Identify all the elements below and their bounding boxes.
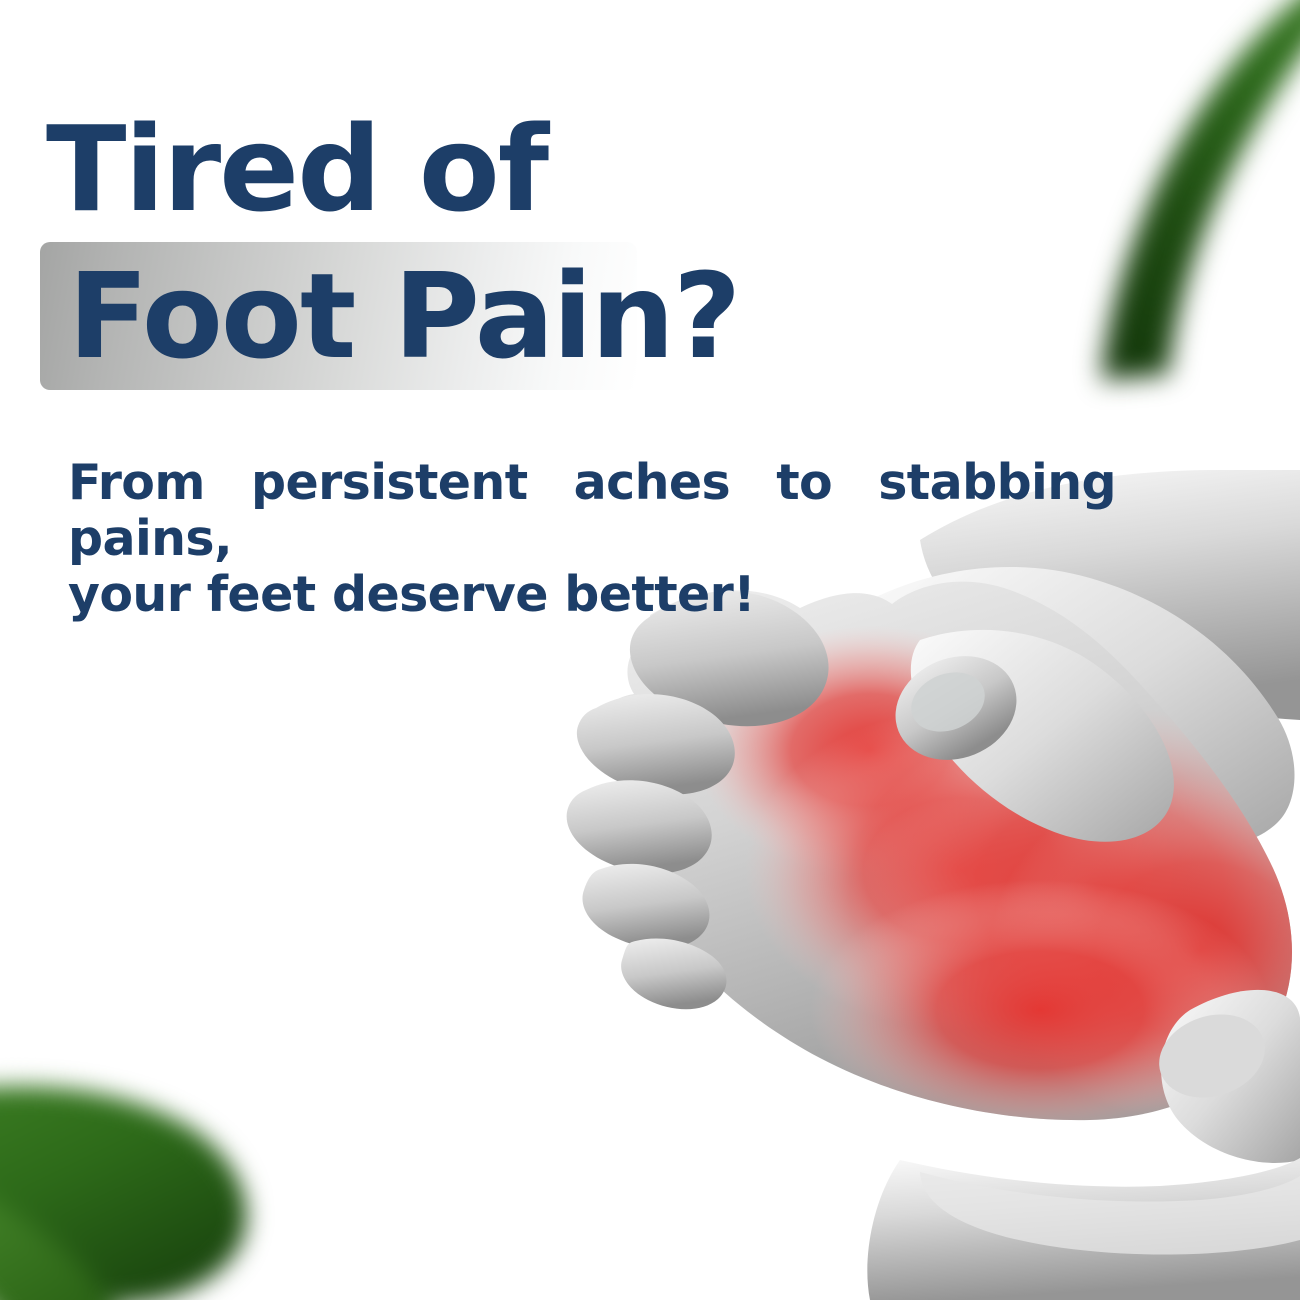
headline-block: Tired of Foot Pain? — [40, 110, 1040, 390]
headline-line-1: Tired of — [40, 110, 1040, 228]
headline-highlight-wrap: Foot Pain? — [40, 242, 763, 390]
leaf-bottom-left-icon — [0, 1011, 296, 1300]
subtitle-line-1: From persistent aches to stabbing pains, — [68, 455, 1116, 567]
leaf-top-right-icon — [1027, 0, 1300, 384]
subtitle-line-2: your feet deserve better! — [68, 567, 1116, 623]
headline-line-2: Foot Pain? — [40, 242, 763, 390]
poster-canvas: Tired of Foot Pain? From persistent ache… — [0, 0, 1300, 1300]
subtitle-block: From persistent aches to stabbing pains,… — [68, 455, 1116, 623]
